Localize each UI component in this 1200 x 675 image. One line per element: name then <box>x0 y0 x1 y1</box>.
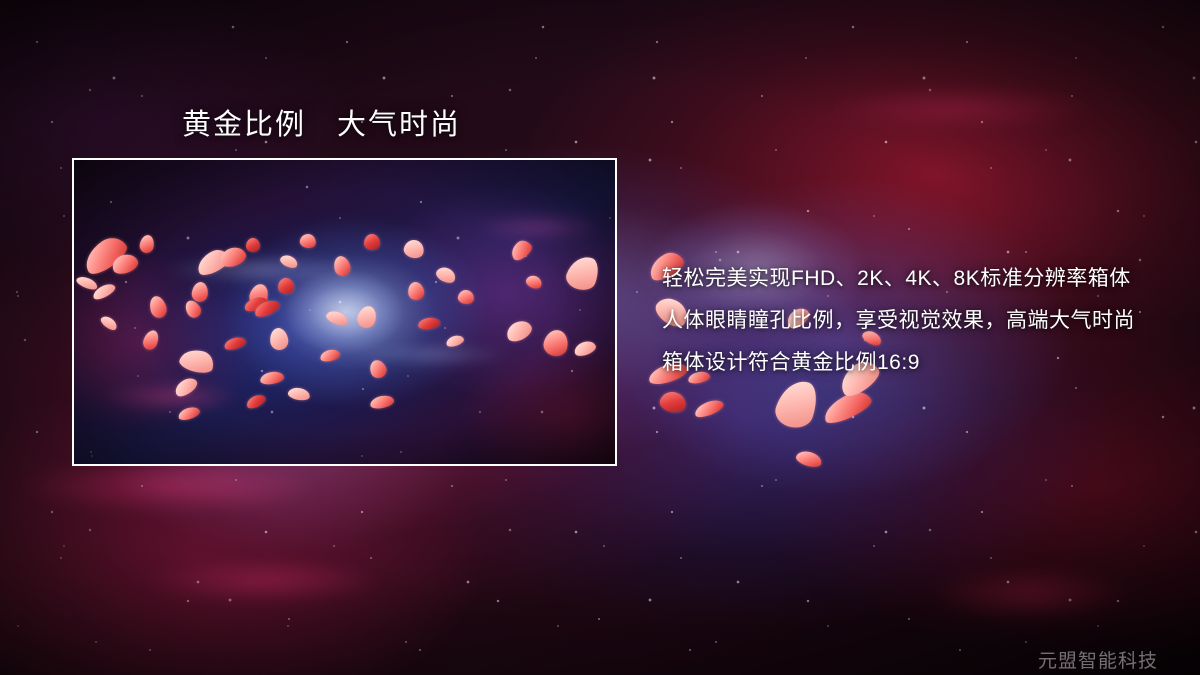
body-line: 人体眼睛瞳孔比例，享受视觉效果，高端大气时尚 <box>662 300 1135 342</box>
body-line: 轻松完美实现FHD、2K、4K、8K标准分辨率箱体 <box>662 258 1135 300</box>
presentation-slide: 黄金比例 大气时尚 轻松完美实现FHD、2K、4K、8K标准分辨率箱体 人体眼睛… <box>0 0 1200 675</box>
petal <box>364 234 380 250</box>
petal <box>246 238 260 252</box>
page-title: 黄金比例 大气时尚 <box>182 101 461 143</box>
framed-nebula-photo <box>72 158 617 466</box>
body-text-block: 轻松完美实现FHD、2K、4K、8K标准分辨率箱体 人体眼睛瞳孔比例，享受视觉效… <box>662 258 1135 384</box>
watermark: 元盟智能科技 <box>1038 646 1158 673</box>
body-line: 箱体设计符合黄金比例16:9 <box>662 342 1135 384</box>
